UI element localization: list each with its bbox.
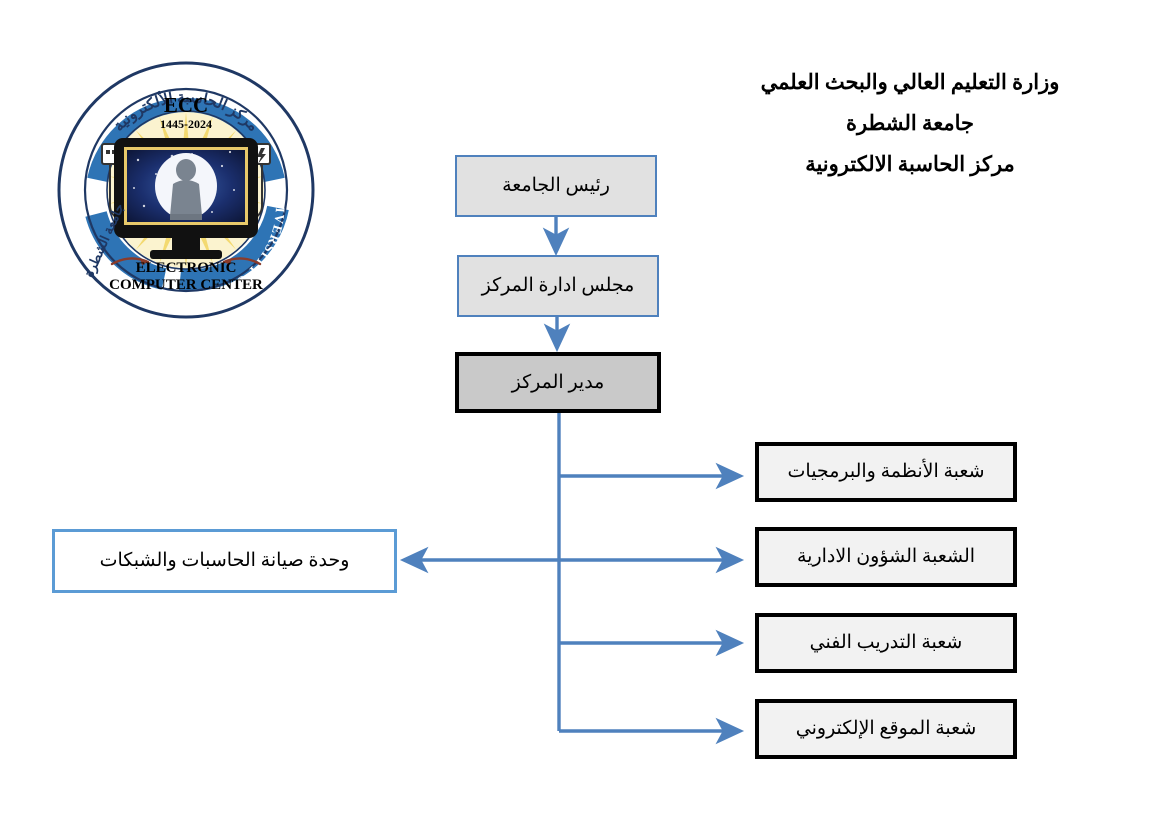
node-admin-department[interactable]: الشعبة الشؤون الادارية [755,527,1017,587]
node-maintenance-unit[interactable]: وحدة صيانة الحاسبات والشبكات [52,529,397,593]
header-line-center: مركز الحاسبة الالكترونية [700,144,1120,185]
logo-acronym: ECC [164,93,208,117]
node-training-department[interactable]: شعبة التدريب الفني [755,613,1017,673]
node-director-label: مدير المركز [506,371,611,395]
node-website-department[interactable]: شعبة الموقع الإلكتروني [755,699,1017,759]
node-board[interactable]: مجلس ادارة المركز [457,255,659,317]
logo-caption-line2: COMPUTER CENTER [109,277,263,293]
ecc-logo: مركز الحاسبة الألكترونية UNIVERSITY OF S… [52,56,320,324]
node-website-department-label: شعبة الموقع الإلكتروني [790,717,982,741]
node-systems-department[interactable]: شعبة الأنظمة والبرمجيات [755,442,1017,502]
logo-years: 1445-2024 [160,117,212,131]
node-president-label: رئيس الجامعة [496,174,616,198]
node-board-label: مجلس ادارة المركز [476,274,641,298]
logo-caption-line1: ELECTRONIC [136,260,237,276]
node-admin-department-label: الشعبة الشؤون الادارية [791,545,981,569]
node-director[interactable]: مدير المركز [455,352,661,413]
header-line-ministry: وزارة التعليم العالي والبحث العلمي [700,62,1120,103]
header-line-university: جامعة الشطرة [700,103,1120,144]
node-maintenance-unit-label: وحدة صيانة الحاسبات والشبكات [94,549,356,573]
node-president[interactable]: رئيس الجامعة [455,155,657,217]
organizational-chart-page: مركز الحاسبة الألكترونية UNIVERSITY OF S… [0,0,1170,827]
header-title-block: وزارة التعليم العالي والبحث العلمي جامعة… [700,62,1120,185]
node-training-department-label: شعبة التدريب الفني [804,631,969,655]
node-systems-department-label: شعبة الأنظمة والبرمجيات [782,460,991,484]
